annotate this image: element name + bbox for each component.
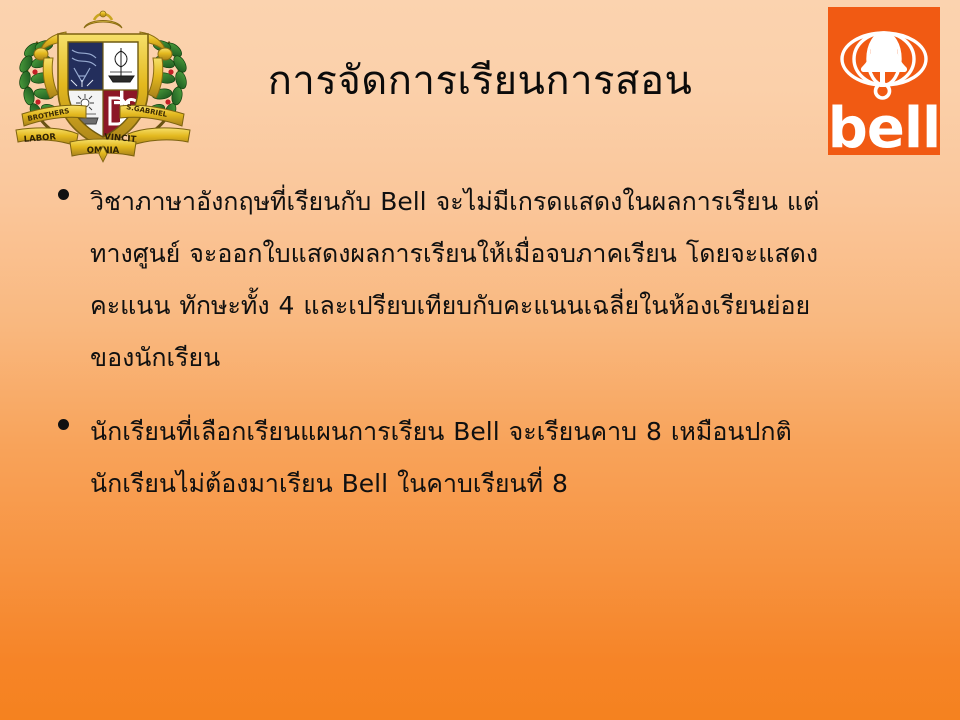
bullet-text: นักเรียนที่เลือกเรียนแผนการเรียน Bell จะ… bbox=[90, 406, 912, 510]
slide-canvas: BROTHERS S.GABRIEL LABOR VINCIT OMNIA bbox=[0, 0, 960, 720]
slide-title: การจัดการเรียนการสอน bbox=[0, 57, 960, 105]
bullet-line: ของนักเรียน bbox=[90, 332, 912, 384]
crest-crown-ornament bbox=[84, 11, 122, 28]
crest-motto-left-text: LABOR bbox=[23, 132, 56, 145]
bullet-line: วิชาภาษาอังกฤษที่เรียนกับ Bell จะไม่มีเก… bbox=[90, 176, 912, 228]
bullet-line: นักเรียนไม่ต้องมาเรียน Bell ในคาบเรียนที… bbox=[90, 458, 912, 510]
slide-body: วิชาภาษาอังกฤษที่เรียนกับ Bell จะไม่มีเก… bbox=[52, 176, 912, 532]
bullet-item: นักเรียนที่เลือกเรียนแผนการเรียน Bell จะ… bbox=[52, 406, 912, 510]
bullet-line: นักเรียนที่เลือกเรียนแผนการเรียน Bell จะ… bbox=[90, 406, 912, 458]
bullet-line: ทางศูนย์ จะออกใบแสดงผลการเรียนให้เมื่อจบ… bbox=[90, 228, 912, 280]
bullet-marker-icon bbox=[58, 419, 69, 430]
bullet-text: วิชาภาษาอังกฤษที่เรียนกับ Bell จะไม่มีเก… bbox=[90, 176, 912, 384]
bullet-line: คะแนน ทักษะทั้ง 4 และเปรียบเทียบกับคะแนน… bbox=[90, 280, 912, 332]
bullet-marker-icon bbox=[58, 189, 69, 200]
bullet-item: วิชาภาษาอังกฤษที่เรียนกับ Bell จะไม่มีเก… bbox=[52, 176, 912, 384]
